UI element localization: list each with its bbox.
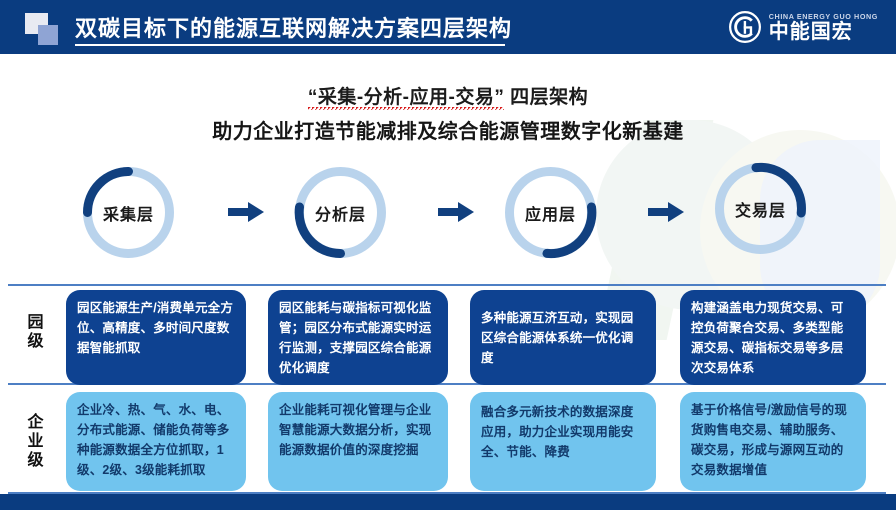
subtitle-line-1: “采集-分析-应用-交易” 四层架构 — [0, 82, 896, 109]
company-logo: CHINA ENERGY GUO HONG 中能国宏 — [728, 8, 878, 46]
card-park-collection[interactable]: 园区能源生产/消费单元全方位、高精度、多时间尺度数据智能抓取 — [66, 290, 246, 385]
slide-canvas: 双碳目标下的能源互联网解决方案四层架构 CHINA ENERGY GUO HON… — [0, 0, 896, 510]
subtitle-line-2: 助力企业打造节能减排及综合能源管理数字化新基建 — [0, 115, 896, 144]
row-label-enterprise: 企 业 级 — [14, 413, 58, 470]
card-enterprise-application[interactable]: 融合多元新技术的数据深度应用，助力企业实现用能安全、节能、降费 — [470, 392, 656, 491]
arrow-right-icon-3 — [648, 200, 686, 224]
arrow-right-icon-1 — [228, 200, 266, 224]
layer-ring-application: 应用层 — [502, 164, 599, 261]
slide-footer-bar — [0, 494, 896, 510]
layer-ring-label-1: 采集层 — [80, 164, 177, 261]
title-underline — [75, 44, 505, 46]
row-label-enterprise-char-3: 级 — [14, 451, 58, 470]
layer-ring-trading: 交易层 — [712, 160, 809, 257]
logo-english-text: CHINA ENERGY GUO HONG — [769, 12, 878, 21]
card-park-application[interactable]: 多种能源互济互动，实现园区综合能源体系统一优化调度 — [470, 290, 656, 385]
slide-header: 双碳目标下的能源互联网解决方案四层架构 CHINA ENERGY GUO HON… — [0, 0, 896, 54]
layer-ring-label-4: 交易层 — [712, 160, 809, 257]
row-label-enterprise-char-1: 企 — [14, 413, 58, 432]
card-enterprise-trading[interactable]: 基于价格信号/激励信号的现货购售电交易、辅助服务、碳交易，形成与源网互动的交易数… — [680, 392, 866, 491]
row-label-park-char-1: 园 — [14, 313, 58, 332]
row-label-park: 园 级 — [14, 313, 58, 351]
card-enterprise-collection[interactable]: 企业冷、热、气、水、电、分布式能源、储能负荷等多种能源数据全方位抓取，1级、2级… — [66, 392, 246, 491]
square-blue-icon — [38, 25, 58, 45]
row-label-enterprise-char-2: 业 — [14, 432, 58, 451]
card-park-analysis[interactable]: 园区能耗与碳指标可视化监管；园区分布式能源实时运行监测，支撑园区综合能源优化调度 — [268, 290, 448, 385]
header-squares-icon — [25, 13, 65, 45]
arrow-right-icon-2 — [438, 200, 476, 224]
subtitle-quoted-phrase: “采集-分析-应用-交易” — [308, 87, 504, 110]
table-divider-top — [8, 284, 886, 286]
layer-ring-label-3: 应用层 — [502, 164, 599, 261]
row-label-park-char-2: 级 — [14, 332, 58, 351]
page-title: 双碳目标下的能源互联网解决方案四层架构 — [75, 11, 512, 43]
guohong-g-logo-icon — [728, 10, 762, 44]
card-enterprise-analysis[interactable]: 企业能耗可视化管理与企业智慧能源大数据分析，实现能源数据价值的深度挖掘 — [268, 392, 448, 491]
card-park-trading[interactable]: 构建涵盖电力现货交易、可控负荷聚合交易、多类型能源交易、碳指标交易等多层次交易体… — [680, 290, 866, 385]
layer-ring-analysis: 分析层 — [292, 164, 389, 261]
layer-ring-collection: 采集层 — [80, 164, 177, 261]
subtitle-line-1-rest: 四层架构 — [504, 87, 588, 108]
layer-ring-label-2: 分析层 — [292, 164, 389, 261]
logo-chinese-text: 中能国宏 — [769, 21, 878, 43]
